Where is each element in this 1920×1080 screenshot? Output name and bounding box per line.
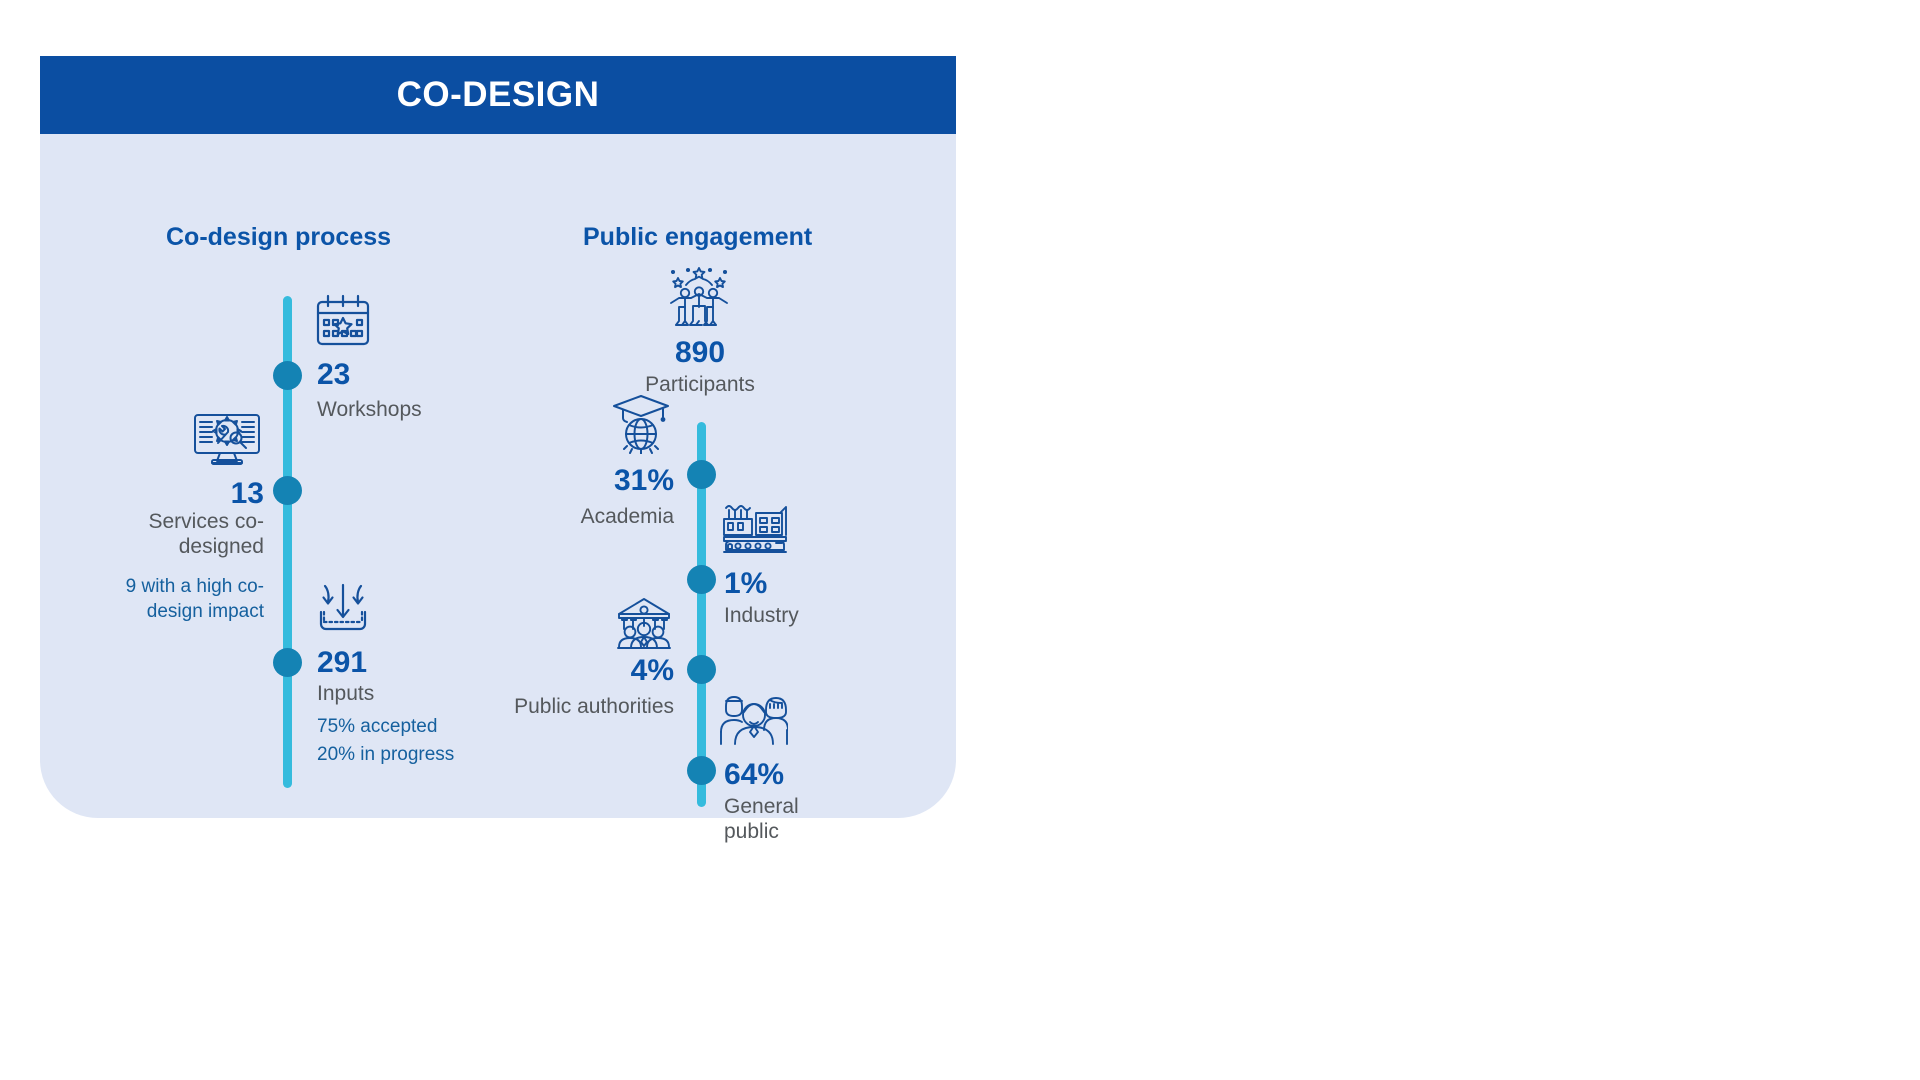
stat-sub-inputs-in-progress: 20% in progress [317,742,557,767]
stat-label-general-public: General public [724,794,834,844]
column-title-codesign-process: Co-design process [166,223,391,252]
service-design-monitor-icon [192,411,262,473]
stat-value-inputs: 291 [317,646,367,680]
stat-label-industry: Industry [724,603,924,628]
stat-value-participants: 890 [600,336,800,370]
timeline-dot-workshops [273,361,302,390]
stat-value-public-authorities: 4% [470,654,674,688]
stat-value-general-public: 64% [724,758,784,792]
timeline-dot-industry [687,565,716,594]
celebrating-people-icon [664,261,734,329]
factory-industry-icon [720,499,790,555]
stat-label-workshops: Workshops [317,397,537,422]
group-of-people-icon [720,688,788,750]
stat-label-academia: Academia [470,504,674,529]
timeline-dot-academia [687,460,716,489]
codesign-card: CO-DESIGN Co-design process Public engag… [40,56,956,818]
column-title-public-engagement: Public engagement [583,223,812,252]
timeline-dot-public-authorities [687,655,716,684]
page-title: CO-DESIGN [397,75,600,115]
stat-label-public-authorities: Public authorities [490,694,674,719]
graduation-globe-icon [610,392,672,454]
inputs-arrows-icon [313,580,373,638]
stat-value-workshops: 23 [317,358,350,392]
stat-sub-services-impact: 9 with a high co-design impact [70,574,264,624]
infographic-stage: CO-DESIGN Co-design process Public engag… [0,0,1920,1080]
government-building-icon [613,595,675,653]
card-header: CO-DESIGN [40,56,956,134]
stat-label-services: Services co-designed [100,509,264,559]
timeline-dot-services [273,476,302,505]
stat-value-academia: 31% [470,464,674,498]
timeline-dot-inputs [273,648,302,677]
stat-value-services: 13 [40,477,264,511]
calendar-star-icon [314,293,372,351]
timeline-dot-general-public [687,756,716,785]
stat-value-industry: 1% [724,567,767,601]
